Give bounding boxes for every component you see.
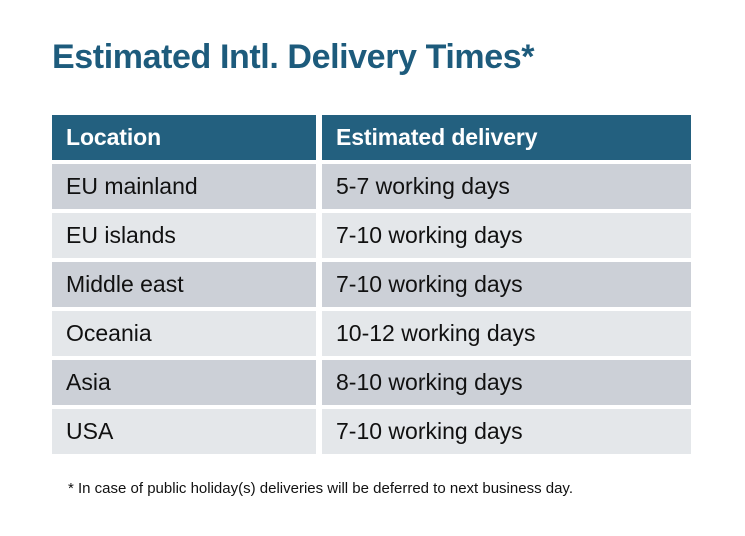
cell-location: USA <box>52 409 316 454</box>
cell-location: EU islands <box>52 213 316 258</box>
cell-estimated-delivery: 7-10 working days <box>322 213 691 258</box>
cell-location: Asia <box>52 360 316 405</box>
cell-location: Middle east <box>52 262 316 307</box>
page-title: Estimated Intl. Delivery Times* <box>52 37 534 78</box>
table-row: Asia 8-10 working days <box>52 360 691 405</box>
delivery-times-page: Estimated Intl. Delivery Times* Location… <box>0 0 745 536</box>
cell-estimated-delivery: 7-10 working days <box>322 409 691 454</box>
column-header-estimated-delivery: Estimated delivery <box>322 115 691 160</box>
cell-location: EU mainland <box>52 164 316 209</box>
delivery-times-table: Location Estimated delivery EU mainland … <box>52 115 691 454</box>
cell-location: Oceania <box>52 311 316 356</box>
table-header-row: Location Estimated delivery <box>52 115 691 160</box>
table-row: USA 7-10 working days <box>52 409 691 454</box>
cell-estimated-delivery: 7-10 working days <box>322 262 691 307</box>
cell-estimated-delivery: 8-10 working days <box>322 360 691 405</box>
cell-estimated-delivery: 10-12 working days <box>322 311 691 356</box>
footnote: * In case of public holiday(s) deliverie… <box>68 480 573 497</box>
column-header-location: Location <box>52 115 316 160</box>
table-row: EU mainland 5-7 working days <box>52 164 691 209</box>
table-row: Middle east 7-10 working days <box>52 262 691 307</box>
cell-estimated-delivery: 5-7 working days <box>322 164 691 209</box>
table-row: EU islands 7-10 working days <box>52 213 691 258</box>
table-row: Oceania 10-12 working days <box>52 311 691 356</box>
